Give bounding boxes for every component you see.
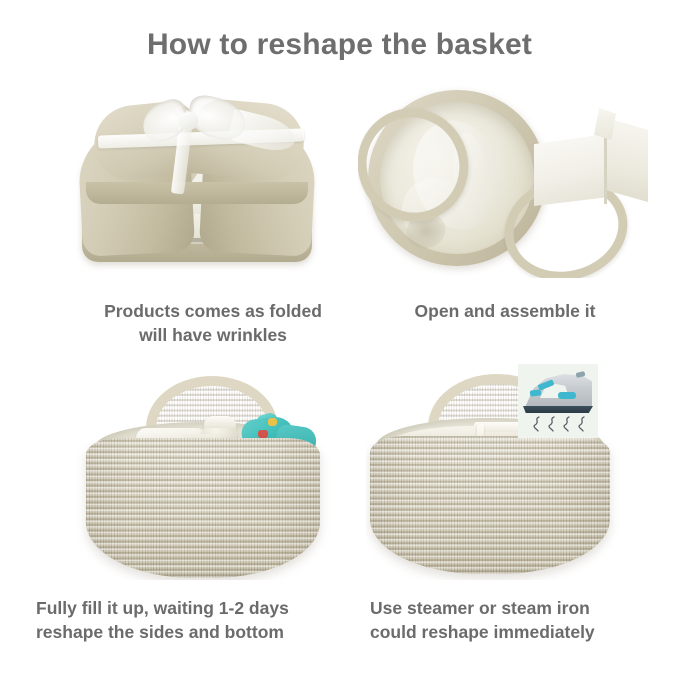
iron-soleplate	[523, 406, 593, 413]
divider-panel-tab	[592, 108, 616, 140]
item-red-accent	[258, 430, 268, 438]
steam-wisp-icon	[577, 416, 587, 432]
basket-shading	[370, 436, 610, 574]
basket-shading	[86, 438, 320, 578]
iron-knob-2	[530, 389, 542, 396]
folded-basket-illustration	[80, 96, 314, 262]
steam-iron-icon	[518, 364, 598, 438]
filled-basket-illustration	[80, 370, 326, 578]
divider-panel-face-left	[534, 134, 606, 206]
iron-knob-3	[558, 392, 576, 399]
steam-wisp-icon	[532, 416, 542, 432]
infographic-root: How to reshape the basket Products comes…	[0, 0, 679, 679]
basket-woven-body	[370, 436, 610, 574]
step-1-caption: Products comes as folded will have wrink…	[68, 299, 358, 347]
step-1-image	[72, 78, 322, 278]
step-2-caption: Open and assemble it	[370, 299, 640, 323]
item-jar-lid	[204, 416, 236, 428]
step-4-caption: Use steamer or steam iron could reshape …	[370, 596, 660, 644]
step-3-caption: Fully fill it up, waiting 1-2 days resha…	[36, 596, 366, 644]
step-2-image	[358, 78, 648, 278]
steam-wisp-icon	[547, 416, 557, 432]
step-4-image	[366, 358, 651, 580]
step-3-image	[72, 362, 332, 580]
open-basket-illustration	[358, 86, 648, 272]
steam-wisp-icon	[562, 416, 572, 432]
basket-woven-body	[86, 438, 320, 578]
folded-basket-lip	[86, 182, 308, 204]
item-yellow-accent	[268, 418, 277, 426]
divider-panel	[534, 108, 648, 218]
page-title: How to reshape the basket	[0, 28, 679, 62]
